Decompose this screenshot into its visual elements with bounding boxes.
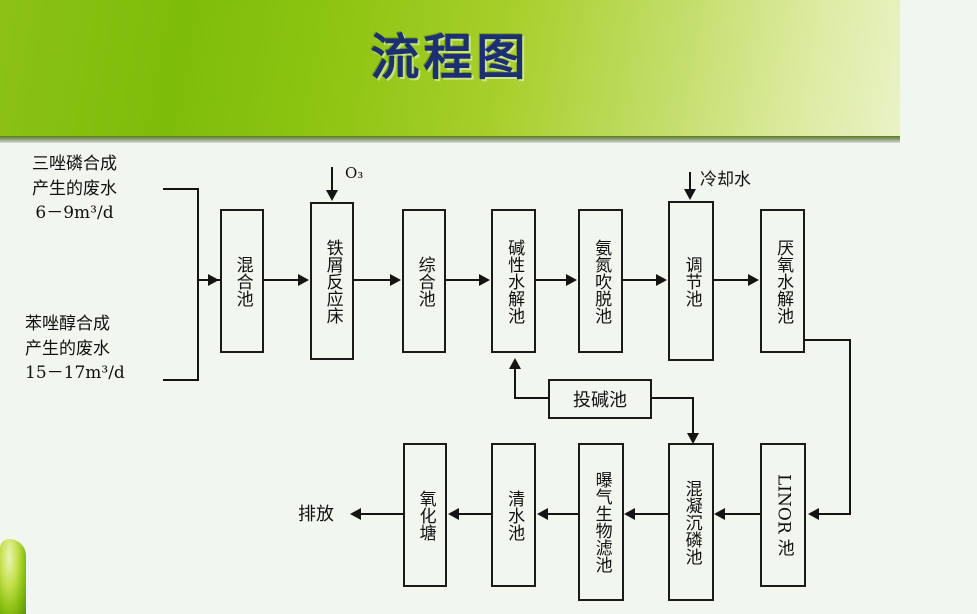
node-clear-water-tank[interactable]: 清水池	[491, 443, 536, 587]
arrow-into-linor-tank	[808, 508, 819, 520]
connector-right-riser-v	[849, 339, 851, 515]
connector-mixing-to-iron	[264, 279, 300, 281]
arrow-into-anaerobic-hydrolysis	[748, 274, 759, 286]
arrow-into-alkaline-from-dosing	[509, 358, 521, 369]
banner-divider	[0, 136, 900, 143]
node-alkaline-hydrolysis[interactable]: 碱性水解池	[491, 209, 536, 353]
arrow-into-coagulation-dephosphorus	[714, 508, 725, 520]
node-linor-tank-label: LINOR 池	[774, 474, 791, 556]
node-mixing-tank[interactable]: 混合池	[220, 209, 264, 353]
input-benzazole-line2: 产生的废水	[25, 337, 125, 362]
arrow-into-oxidation-pond	[448, 508, 459, 520]
node-alkali-dosing-tank[interactable]: 投碱池	[548, 379, 652, 419]
connector-alkaline-to-ammonia	[536, 279, 568, 281]
input-label-triazophos: 三唑磷合成 产生的废水 6－9m³/d	[32, 152, 117, 226]
input-triazophos-line1: 三唑磷合成	[32, 152, 117, 177]
connector-oxidation-to-discharge	[360, 513, 403, 515]
input-benzazole-flow: 15－17m³/d	[25, 361, 125, 386]
connector-dosing-to-coagulation-h	[652, 397, 694, 399]
connector-integrated-to-alkaline	[446, 279, 481, 281]
node-anaerobic-hydrolysis[interactable]: 厌氧水解池	[760, 209, 805, 353]
connector-dosing-to-alkaline-v	[514, 368, 516, 399]
node-aerated-biofilter-label: 曝气生物滤池	[592, 471, 609, 573]
arrow-into-clear-water-tank	[537, 508, 548, 520]
node-ammonia-stripping-label: 氨氮吹脱池	[592, 239, 609, 324]
connector-coagulation-to-biofilter	[634, 513, 668, 515]
arrow-into-integrated-tank	[390, 274, 401, 286]
connector-iron-to-integrated	[354, 279, 392, 281]
node-linor-tank[interactable]: LINOR 池	[760, 443, 806, 587]
arrow-cooling-water-into-regulating	[684, 189, 696, 200]
connector-benzazole-h	[163, 379, 199, 381]
connector-ammonia-to-regulating	[623, 279, 658, 281]
node-clear-water-tank-label: 清水池	[505, 490, 522, 541]
node-ammonia-stripping[interactable]: 氨氮吹脱池	[578, 209, 623, 353]
node-iron-scrap-bed[interactable]: 铁屑反应床	[310, 202, 354, 360]
input-triazophos-flow: 6－9m³/d	[32, 201, 117, 226]
node-regulating-tank[interactable]: 调节池	[668, 201, 714, 361]
node-alkaline-hydrolysis-label: 碱性水解池	[505, 239, 522, 324]
node-oxidation-pond-label: 氧化塘	[416, 490, 433, 541]
node-anaerobic-hydrolysis-label: 厌氧水解池	[774, 239, 791, 324]
input-benzazole-line1: 苯唑醇合成	[25, 312, 125, 337]
connector-merge-v	[197, 188, 199, 381]
node-mixing-tank-label: 混合池	[233, 256, 250, 307]
node-aerated-biofilter[interactable]: 曝气生物滤池	[578, 443, 624, 601]
node-coagulation-dephosphorus-label: 混凝沉磷池	[682, 480, 699, 565]
arrow-into-alkaline-hydrolysis	[479, 274, 490, 286]
arrow-into-ammonia-stripping	[566, 274, 577, 286]
feed-label-cooling-water: 冷却水	[700, 168, 751, 193]
connector-anaerobic-out-h	[805, 339, 851, 341]
arrow-into-aerated-biofilter	[624, 508, 635, 520]
input-triazophos-line2: 产生的废水	[32, 177, 117, 202]
connector-triazophos-h	[163, 188, 199, 190]
input-label-benzazole: 苯唑醇合成 产生的废水 15－17m³/d	[25, 312, 125, 386]
node-coagulation-dephosphorus[interactable]: 混凝沉磷池	[668, 443, 714, 601]
connector-linor-to-coagulation	[725, 513, 760, 515]
connector-dosing-to-coagulation-v	[692, 397, 694, 436]
connector-clearwater-to-oxidation	[458, 513, 491, 515]
node-integrated-tank[interactable]: 综合池	[402, 209, 446, 353]
connector-biofilter-to-clearwater	[547, 513, 578, 515]
slide-canvas: 流程图 三唑磷合成 产生的废水 6－9m³/d 苯唑醇合成 产生的废水 15－1…	[0, 0, 977, 614]
node-alkali-dosing-tank-label: 投碱池	[573, 386, 627, 412]
node-iron-scrap-bed-label: 铁屑反应床	[323, 239, 340, 324]
connector-dosing-to-alkaline-h	[514, 397, 550, 399]
node-regulating-tank-label: 调节池	[682, 256, 699, 307]
decorative-leaf-shape	[0, 539, 26, 614]
connector-ozone-v	[331, 167, 333, 192]
feed-label-ozone: O₃	[345, 163, 363, 185]
output-label-discharge: 排放	[298, 502, 334, 528]
arrow-ozone-into-iron-bed	[326, 190, 338, 201]
connector-into-linor-h	[818, 513, 851, 515]
arrow-into-iron-scrap-bed	[298, 274, 309, 286]
node-oxidation-pond[interactable]: 氧化塘	[403, 443, 447, 587]
arrow-into-mixing-tank	[208, 274, 219, 286]
page-title: 流程图	[0, 18, 900, 89]
node-integrated-tank-label: 综合池	[415, 256, 432, 307]
arrow-into-regulating-tank	[656, 274, 667, 286]
connector-regulating-to-anaerobic	[714, 279, 748, 281]
arrow-into-discharge	[350, 508, 361, 520]
